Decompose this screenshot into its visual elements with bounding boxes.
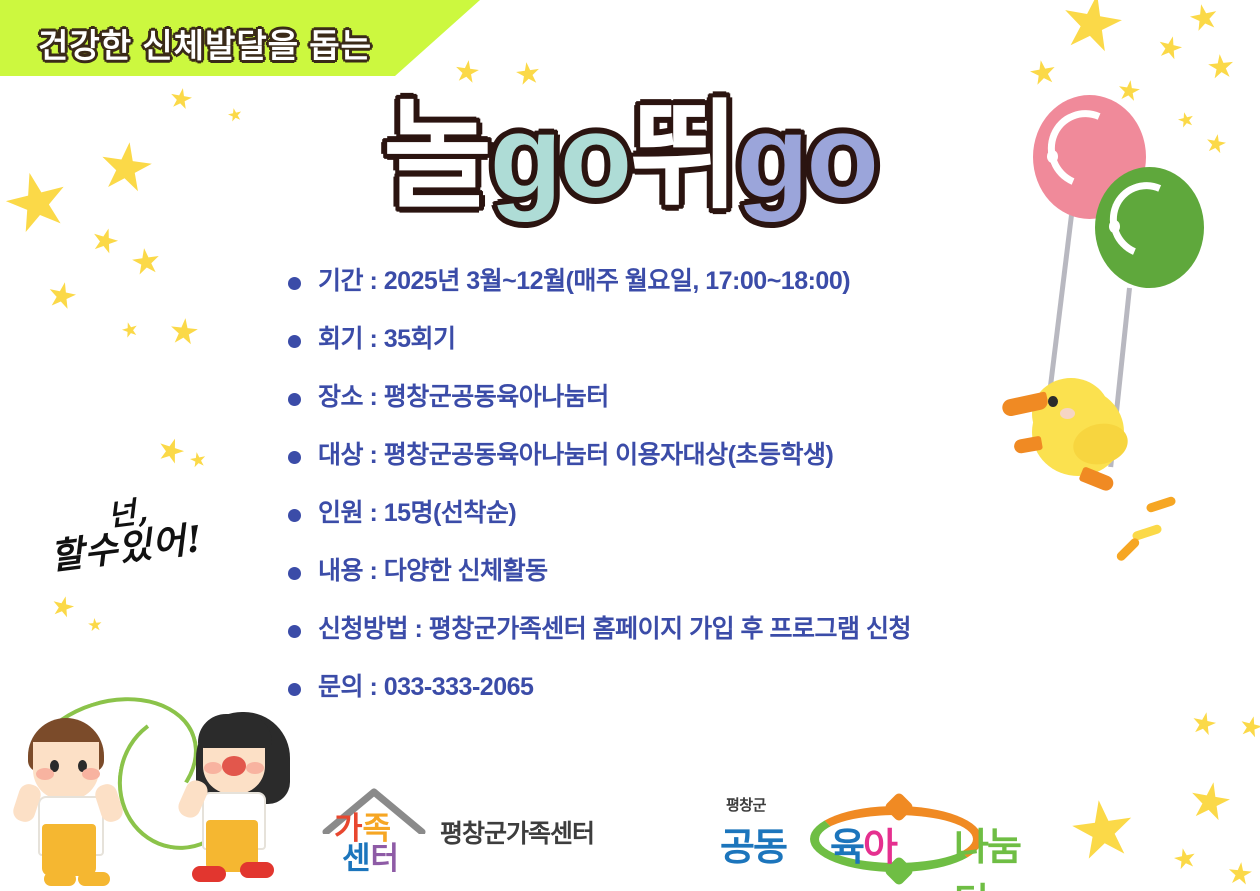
info-text: 대상 : 평창군공동육아나눔터 이용자대상(초등학생) [318, 440, 833, 471]
balloon-pink-dot [1047, 150, 1058, 163]
star-icon [1238, 714, 1260, 741]
star-icon [50, 594, 77, 621]
poster-canvas: 건강한 신체발달을 돕는 놀go뛰go 기간 : 2025년 3월~12월(매주… [0, 0, 1260, 891]
mark-char-sen: 센 [342, 841, 371, 876]
sharing-center-word1: 공동 [720, 816, 786, 871]
duck-eye [1048, 396, 1058, 407]
star-icon [169, 317, 200, 348]
list-item: 회기 : 35회기 [288, 324, 1048, 358]
girl-cheek-right [246, 762, 264, 774]
bullet-icon [288, 625, 301, 638]
sharing-char-a: 아 [863, 827, 896, 869]
info-text: 장소 : 평창군공동육아나눔터 [318, 382, 609, 413]
list-item: 인원 : 15명(선착순) [288, 498, 1048, 532]
balloon-green-dot [1109, 220, 1120, 233]
sharing-center-word3: 나눔터 [954, 816, 1024, 891]
info-text: 회기 : 35회기 [318, 324, 456, 355]
motion-dash-1 [1145, 496, 1176, 514]
boy-shoe-right [78, 872, 110, 886]
star-icon [1172, 846, 1198, 872]
star-icon [120, 320, 140, 340]
star-icon [45, 279, 78, 312]
calligraphy-illustration: 넌, 할수있어! [43, 472, 272, 588]
star-icon [1190, 710, 1218, 738]
boy-cheek-left [36, 768, 54, 780]
mark-char-teo: 터 [371, 841, 400, 876]
list-item: 대상 : 평창군공동육아나눔터 이용자대상(초등학생) [288, 440, 1048, 474]
star-icon [1187, 1, 1220, 34]
bullet-icon [288, 277, 301, 290]
star-icon [87, 617, 102, 632]
list-item: 기간 : 2025년 3월~12월(매주 월요일, 17:00~18:00) [288, 266, 1048, 300]
girl-bangs [198, 714, 272, 748]
house-roof-icon: 가족 센터 [322, 786, 426, 878]
girl-mouth [222, 756, 246, 776]
boy-shorts [42, 824, 96, 876]
star-icon [1068, 796, 1138, 866]
family-center-name: 평창군가족센터 [440, 814, 594, 850]
bullet-icon [288, 683, 301, 696]
star-icon [1227, 861, 1253, 887]
mark-line-2: 센터 [342, 844, 399, 873]
list-item: 신청방법 : 평창군가족센터 홈페이지 가입 후 프로그램 신청 [288, 614, 1048, 648]
list-item: 장소 : 평창군공동육아나눔터 [288, 382, 1048, 416]
sharing-center-word2: 육아 [830, 816, 896, 871]
boy-cheek-right [82, 768, 100, 780]
logo-family-center: 가족 센터 평창군가족센터 [322, 786, 594, 878]
star-icon [1057, 0, 1127, 59]
title-part-go1: go [490, 96, 630, 220]
info-text: 신청방법 : 평창군가족센터 홈페이지 가입 후 프로그램 신청 [318, 614, 911, 645]
star-icon [155, 435, 188, 468]
star-icon [189, 451, 208, 470]
bullet-icon [288, 509, 301, 522]
star-icon [1207, 53, 1236, 82]
bullet-icon [288, 335, 301, 348]
bullet-icon [288, 393, 301, 406]
girl-shoe-right [240, 862, 274, 878]
list-item: 문의 : 033-333-2065 [288, 672, 1048, 706]
star-icon [1155, 33, 1184, 62]
calligraphy-line-2: 할수있어! [47, 510, 205, 580]
bullet-icon [288, 567, 301, 580]
duck-cheek [1060, 408, 1075, 419]
info-text: 인원 : 15명(선착순) [318, 498, 516, 529]
sharing-char-yuk: 육 [830, 827, 863, 869]
star-icon [514, 60, 541, 87]
bullet-icon [288, 451, 301, 464]
title-part-ttwi: 뛰 [630, 96, 737, 220]
star-icon [453, 58, 480, 85]
info-text: 내용 : 다양한 신체활동 [318, 556, 548, 587]
motion-dash-3 [1115, 536, 1141, 562]
header-banner-label: 건강한 신체발달을 돕는 [38, 19, 372, 67]
boy-shoe-left [44, 872, 76, 886]
info-text: 문의 : 033-333-2065 [318, 672, 533, 703]
info-text: 기간 : 2025년 3월~12월(매주 월요일, 17:00~18:00) [318, 266, 850, 297]
program-info-list: 기간 : 2025년 3월~12월(매주 월요일, 17:00~18:00) 회… [288, 266, 1048, 730]
list-item: 내용 : 다양한 신체활동 [288, 556, 1048, 590]
title-part-nol: 놀 [383, 96, 490, 220]
star-icon [89, 225, 121, 257]
logo-sharing-center: 평창군 공동 육아 나눔터 [714, 792, 1024, 874]
title-part-go2: go [737, 96, 877, 220]
family-center-mark-text: 가족 센터 [334, 814, 391, 843]
girl-cheek-left [204, 762, 222, 774]
sharing-center-sub: 평창군 [726, 794, 766, 815]
girl-shoe-left [192, 866, 226, 882]
star-icon [1187, 779, 1233, 825]
star-icon [130, 246, 162, 278]
star-icon [1028, 58, 1058, 88]
